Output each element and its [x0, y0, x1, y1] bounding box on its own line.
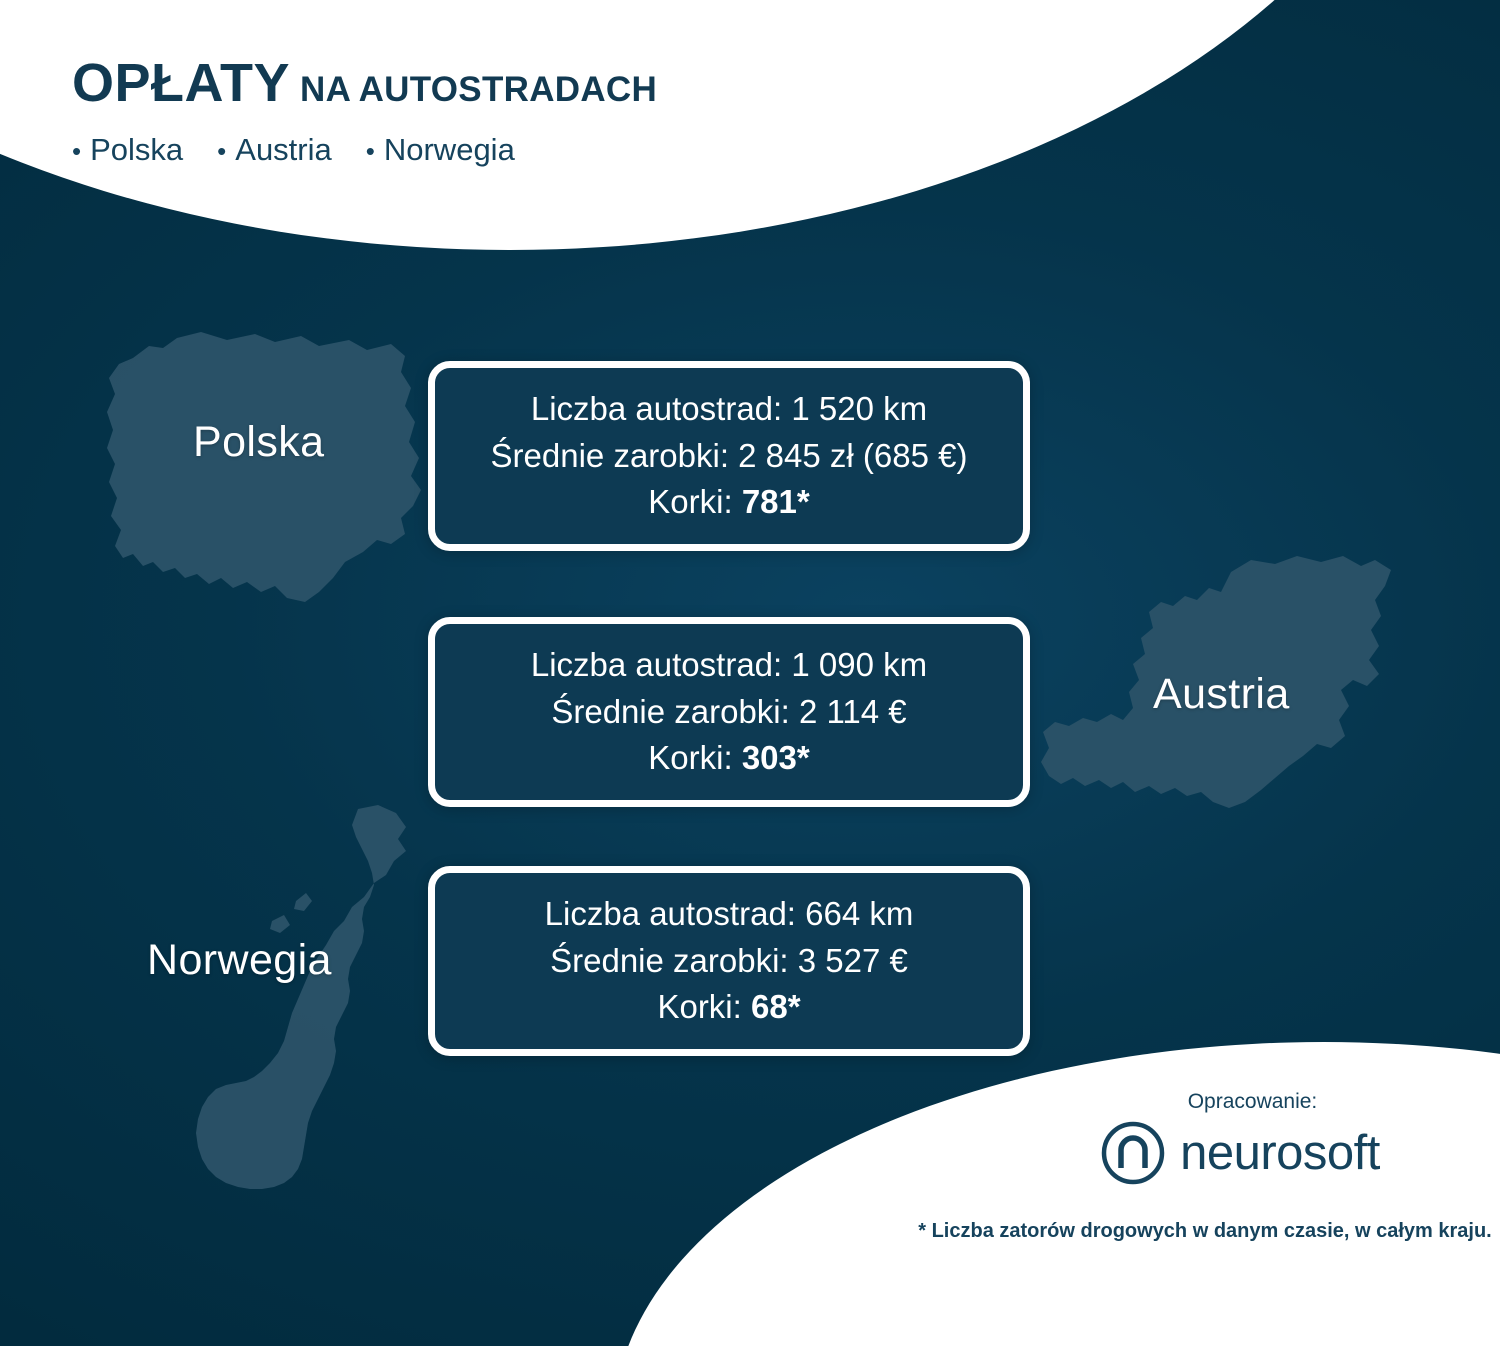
neurosoft-circle-n-icon	[1100, 1120, 1166, 1186]
salary-line: Średnie zarobki: 2 114 €	[551, 689, 906, 736]
bullet-dot-icon: •	[217, 138, 226, 164]
bullet-item-austria: • Austria	[217, 132, 332, 168]
traffic-jams-label: Korki:	[657, 988, 751, 1025]
footer: Opracowanie: neurosoft * Liczba zatorów …	[900, 1090, 1500, 1320]
bullet-label: Norwegia	[384, 132, 515, 168]
info-card-polska: Liczba autostrad: 1 520 km Średnie zarob…	[428, 361, 1030, 551]
poland-map-icon	[105, 330, 435, 630]
bullet-dot-icon: •	[72, 138, 81, 164]
traffic-jams-line: Korki: 303*	[648, 735, 809, 782]
footnote: * Liczba zatorów drogowych w danym czasi…	[910, 1220, 1500, 1243]
brand-logo: neurosoft	[980, 1120, 1500, 1186]
highways-line: Liczba autostrad: 1 090 km	[531, 642, 927, 689]
traffic-jams-line: Korki: 68*	[657, 984, 800, 1031]
traffic-jams-value: 303*	[742, 739, 810, 776]
info-card-norwegia: Liczba autostrad: 664 km Średnie zarobki…	[428, 866, 1030, 1056]
highways-line: Liczba autostrad: 1 520 km	[531, 386, 927, 433]
title-main: OPŁATY	[72, 53, 290, 113]
salary-line: Średnie zarobki: 3 527 €	[550, 938, 908, 985]
map-label-austria: Austria	[1153, 670, 1290, 719]
page-title: OPŁATYNA AUTOSTRADACH	[72, 56, 1060, 110]
brand-wordmark: neurosoft	[1180, 1129, 1380, 1178]
salary-line: Średnie zarobki: 2 845 zł (685 €)	[491, 433, 968, 480]
bullet-item-polska: • Polska	[72, 132, 183, 168]
highways-line: Liczba autostrad: 664 km	[545, 891, 914, 938]
map-label-norwegia: Norwegia	[147, 936, 332, 985]
infographic-canvas: OPŁATYNA AUTOSTRADACH • Polska • Austria…	[0, 0, 1500, 1346]
bullet-label: Austria	[235, 132, 331, 168]
traffic-jams-value: 781*	[742, 483, 810, 520]
bullet-dot-icon: •	[366, 138, 375, 164]
traffic-jams-line: Korki: 781*	[648, 479, 809, 526]
info-card-austria: Liczba autostrad: 1 090 km Średnie zarob…	[428, 617, 1030, 807]
bullet-label: Polska	[90, 132, 183, 168]
header: OPŁATYNA AUTOSTRADACH • Polska • Austria…	[0, 0, 1060, 250]
country-bullet-list: • Polska • Austria • Norwegia	[72, 132, 1060, 168]
traffic-jams-label: Korki:	[648, 483, 742, 520]
map-label-polska: Polska	[193, 418, 324, 467]
bullet-item-norwegia: • Norwegia	[366, 132, 515, 168]
credit-label: Opracowanie:	[1005, 1090, 1500, 1114]
title-subtitle: NA AUTOSTRADACH	[300, 70, 657, 109]
norway-map-icon	[150, 805, 450, 1205]
traffic-jams-value: 68*	[751, 988, 801, 1025]
traffic-jams-label: Korki:	[648, 739, 742, 776]
